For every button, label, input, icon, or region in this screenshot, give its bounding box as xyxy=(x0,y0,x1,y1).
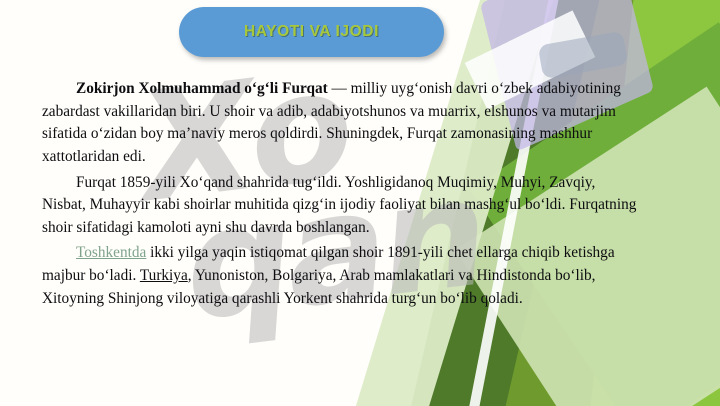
paragraph-2: Furqat 1859-yili Xo‘qand shahrida tug‘il… xyxy=(42,172,642,240)
presentation-slide: Xo qan HAYOTI VA IJODI Zokirjon Xolmuham… xyxy=(0,0,720,406)
slide-title: HAYOTI VA IJODI xyxy=(244,23,379,41)
grey-blob-shape xyxy=(538,31,629,79)
slide-body: Zokirjon Xolmuhammad o‘g‘li Furqat — mil… xyxy=(42,78,642,313)
paragraph-1: Zokirjon Xolmuhammad o‘g‘li Furqat — mil… xyxy=(42,78,642,169)
paragraph-3: Toshkentda ikki yilga yaqin istiqomat qi… xyxy=(42,242,642,310)
paragraph-2-text: Furqat 1859-yili Xo‘qand shahrida tug‘il… xyxy=(42,174,636,236)
hyperlink-turkiya[interactable]: Turkiya xyxy=(140,267,188,284)
subject-name: Zokirjon Xolmuhammad o‘g‘li Furqat xyxy=(76,80,328,97)
slide-title-banner: HAYOTI VA IJODI xyxy=(179,7,444,57)
hyperlink-toshkentda[interactable]: Toshkentda xyxy=(76,244,146,261)
